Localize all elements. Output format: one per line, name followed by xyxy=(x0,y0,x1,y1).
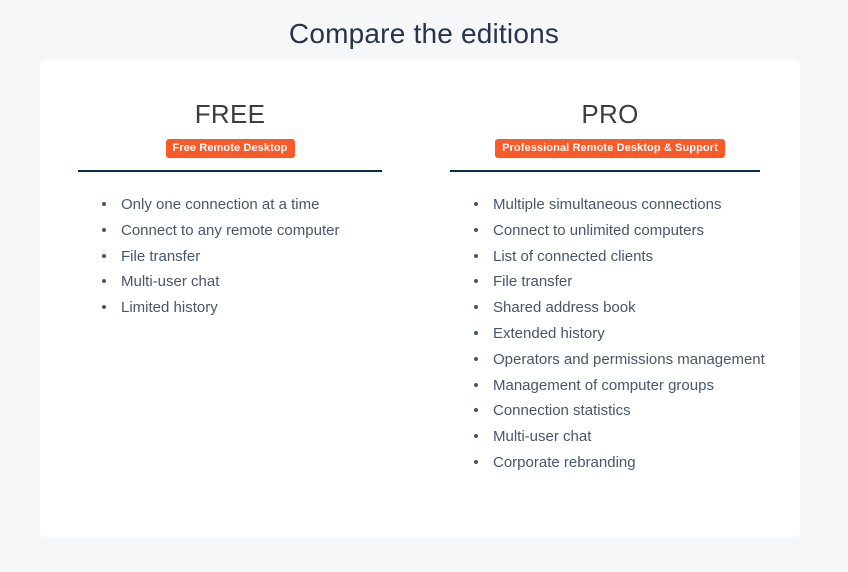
feature-text: Shared address book xyxy=(493,299,636,316)
feature-text: Limited history xyxy=(121,299,218,316)
bullet-icon xyxy=(474,460,478,464)
list-item: Only one connection at a time xyxy=(98,192,382,218)
comparison-page: Compare the editions FREE Free Remote De… xyxy=(0,0,848,572)
feature-text: Only one connection at a time xyxy=(121,196,319,213)
bullet-icon xyxy=(102,305,106,309)
list-item: File transfer xyxy=(98,244,382,270)
edition-heading-free: FREE xyxy=(78,99,382,129)
feature-text: Operators and permissions management xyxy=(493,351,765,368)
edition-divider-free xyxy=(78,170,382,172)
feature-text: Connection statistics xyxy=(493,402,631,419)
bullet-icon xyxy=(474,279,478,283)
feature-list-free: Only one connection at a time Connect to… xyxy=(78,192,382,321)
list-item: Connect to any remote computer xyxy=(98,218,382,244)
list-item: Corporate rebranding xyxy=(470,450,775,476)
bullet-icon xyxy=(102,202,106,206)
bullet-icon xyxy=(474,331,478,335)
list-item: Operators and permissions management xyxy=(470,347,775,373)
bullet-icon xyxy=(474,202,478,206)
edition-divider-pro xyxy=(450,170,760,172)
list-item: Limited history xyxy=(98,295,382,321)
comparison-columns: FREE Free Remote Desktop Only one connec… xyxy=(40,60,800,537)
bullet-icon xyxy=(102,254,106,258)
feature-text: Multi-user chat xyxy=(493,428,591,445)
feature-text: List of connected clients xyxy=(493,248,653,265)
feature-text: Connect to unlimited computers xyxy=(493,222,704,239)
bullet-icon xyxy=(474,408,478,412)
list-item: List of connected clients xyxy=(470,244,775,270)
feature-text: Connect to any remote computer xyxy=(121,222,339,239)
edition-badge-pro: Professional Remote Desktop & Support xyxy=(495,139,725,158)
edition-badge-free: Free Remote Desktop xyxy=(166,139,295,158)
list-item: Multiple simultaneous connections xyxy=(470,192,775,218)
list-item: Shared address book xyxy=(470,295,775,321)
bullet-icon xyxy=(474,228,478,232)
list-item: Connection statistics xyxy=(470,398,775,424)
bullet-icon xyxy=(474,254,478,258)
bullet-icon xyxy=(474,305,478,309)
edition-heading-pro: PRO xyxy=(445,99,775,129)
feature-text: Corporate rebranding xyxy=(493,454,636,471)
bullet-icon xyxy=(474,357,478,361)
feature-text: Multi-user chat xyxy=(121,273,219,290)
feature-text: Multiple simultaneous connections xyxy=(493,196,721,213)
edition-column-pro: PRO Professional Remote Desktop & Suppor… xyxy=(420,60,800,537)
bullet-icon xyxy=(474,434,478,438)
list-item: File transfer xyxy=(470,269,775,295)
comparison-card: FREE Free Remote Desktop Only one connec… xyxy=(40,60,800,537)
bullet-icon xyxy=(102,279,106,283)
list-item: Connect to unlimited computers xyxy=(470,218,775,244)
feature-text: File transfer xyxy=(121,248,200,265)
feature-list-pro: Multiple simultaneous connections Connec… xyxy=(445,192,775,476)
list-item: Multi-user chat xyxy=(98,269,382,295)
list-item: Extended history xyxy=(470,321,775,347)
list-item: Management of computer groups xyxy=(470,373,775,399)
page-title: Compare the editions xyxy=(0,17,848,51)
feature-text: File transfer xyxy=(493,273,572,290)
list-item: Multi-user chat xyxy=(470,424,775,450)
feature-text: Management of computer groups xyxy=(493,377,714,394)
bullet-icon xyxy=(102,228,106,232)
edition-column-free: FREE Free Remote Desktop Only one connec… xyxy=(40,60,420,537)
edition-badge-row-free: Free Remote Desktop xyxy=(78,138,382,158)
bullet-icon xyxy=(474,383,478,387)
feature-text: Extended history xyxy=(493,325,605,342)
edition-badge-row-pro: Professional Remote Desktop & Support xyxy=(445,138,775,158)
